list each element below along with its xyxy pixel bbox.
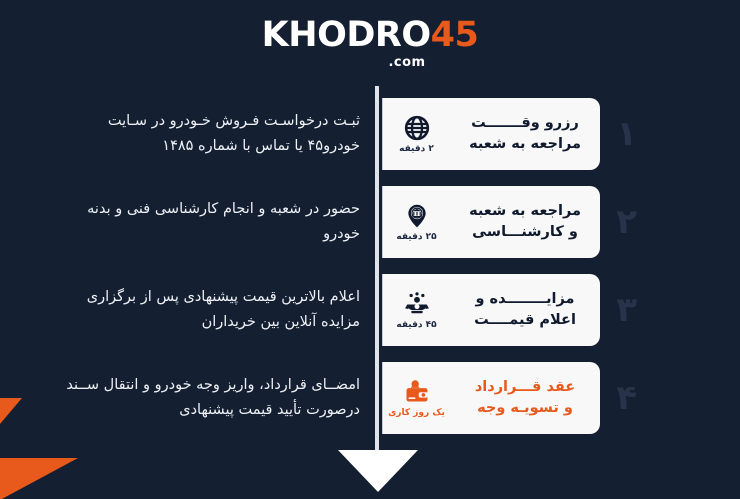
step-card[interactable]: ۲ دقیقه رزرو وقـــــــت مراجعه به شعبه (382, 98, 600, 170)
step-item[interactable]: ۲ ۲۵ دقیقه مراجعه به شعبه و کارشنـــاسی (0, 186, 740, 258)
step-item[interactable]: ۴ یک روز کاری عقد قـــرارداد و تسویـه وج… (0, 362, 740, 434)
step-card[interactable]: ۴۵ دقیقه مزایــــــــده و اعلام قیمــــت (382, 274, 600, 346)
step-icon-area: ۲۵ دقیقه (382, 186, 450, 258)
step-description-line2: خودرو (54, 222, 360, 247)
step-description: حضور در شعبه و انجام کارشناسی فنی و بدنه… (30, 186, 360, 258)
step-title: عقد قـــرارداد و تسویـه وجه (450, 362, 600, 434)
step-title-line2: و تسویـه وجه (477, 398, 573, 419)
step-icon-area: ۴۵ دقیقه (382, 274, 450, 346)
step-icon-area: ۲ دقیقه (382, 98, 450, 170)
step-description-line1: اعلام بالاترین قیمت پیشنهادی پس از برگزا… (54, 285, 360, 310)
step-number: ۳ (616, 293, 637, 327)
step-description: امضــای قرارداد، واریز وجه خودرو و انتقا… (30, 362, 360, 434)
step-title: مراجعه به شعبه و کارشنـــاسی (450, 186, 600, 258)
wallet-money-icon (404, 379, 430, 405)
step-title-line2: اعلام قیمــــت (474, 310, 576, 331)
step-description-text: اعلام بالاترین قیمت پیشنهادی پس از برگزا… (54, 285, 360, 336)
step-title-line1: مزایــــــــده و (475, 289, 574, 310)
step-description-text: حضور در شعبه و انجام کارشناسی فنی و بدنه… (54, 197, 360, 248)
step-description-line2: مزایده آنلاین بین خریداران (54, 310, 360, 335)
globe-icon (404, 115, 430, 141)
step-title-line1: عقد قـــرارداد (475, 377, 575, 398)
step-description-text: امضــای قرارداد، واریز وجه خودرو و انتقا… (54, 373, 360, 424)
step-duration: یک روز کاری (388, 408, 445, 418)
step-description-line1: امضــای قرارداد، واریز وجه خودرو و انتقا… (54, 373, 360, 398)
step-title-line2: مراجعه به شعبه (469, 134, 581, 155)
auction-bidders-icon (404, 291, 430, 317)
step-description: اعلام بالاترین قیمت پیشنهادی پس از برگزا… (30, 274, 360, 346)
step-title: رزرو وقـــــــت مراجعه به شعبه (450, 98, 600, 170)
step-duration: ۲۵ دقیقه (396, 232, 436, 242)
step-description: ثبـت درخواسـت فـروش خـودرو در سـایت خودر… (30, 98, 360, 170)
step-description-line1: ثبـت درخواسـت فـروش خـودرو در سـایت (54, 109, 360, 134)
step-number: ۴ (616, 381, 637, 415)
step-description-text: ثبـت درخواسـت فـروش خـودرو در سـایت خودر… (54, 109, 360, 160)
step-description-line1: حضور در شعبه و انجام کارشناسی فنی و بدنه (54, 197, 360, 222)
step-description-line2: درصورت تأیید قیمت پیشنهادی (54, 398, 360, 423)
step-number: ۱ (616, 117, 637, 151)
step-duration: ۲ دقیقه (399, 144, 434, 154)
step-number: ۲ (616, 205, 637, 239)
step-icon-area: یک روز کاری (382, 362, 450, 434)
step-item[interactable]: ۳ ۴۵ دقیقه مزایــــــــده و اعلام (0, 274, 740, 346)
step-title-line1: مراجعه به شعبه (469, 201, 581, 222)
step-description-line2: خودرو۴۵ یا تماس با شماره ۱۴۸۵ (54, 134, 360, 159)
step-title-line1: رزرو وقـــــــت (471, 113, 579, 134)
step-card[interactable]: یک روز کاری عقد قـــرارداد و تسویـه وجه (382, 362, 600, 434)
steps-list: ۱ ۲ دقیقه رزرو وقـــــــت مراجعه به شعبه… (0, 0, 740, 499)
step-item[interactable]: ۱ ۲ دقیقه رزرو وقـــــــت مراجعه به شعبه… (0, 98, 740, 170)
step-card[interactable]: ۲۵ دقیقه مراجعه به شعبه و کارشنـــاسی (382, 186, 600, 258)
step-title: مزایــــــــده و اعلام قیمــــت (450, 274, 600, 346)
step-duration: ۴۵ دقیقه (396, 320, 436, 330)
map-pin-bank-icon (404, 203, 430, 229)
step-title-line2: و کارشنـــاسی (472, 222, 578, 243)
